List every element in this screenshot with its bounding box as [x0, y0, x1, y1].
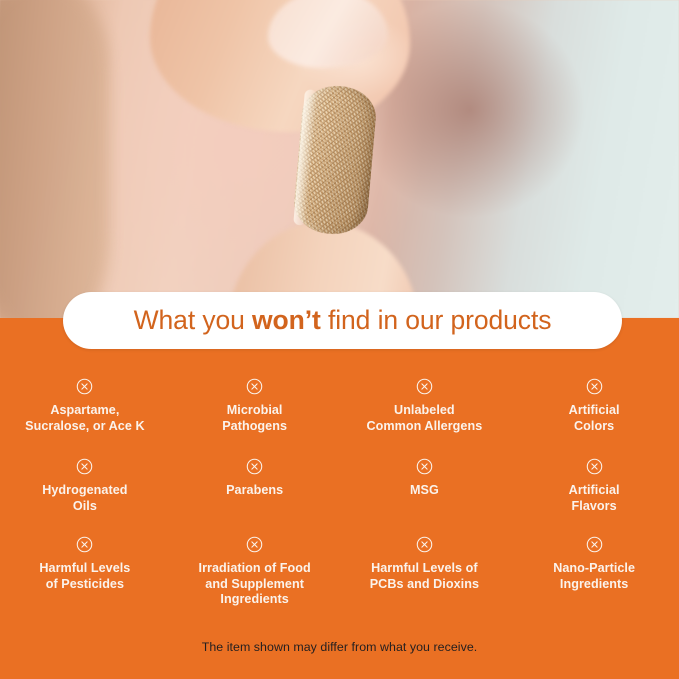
supplement-tablet	[292, 83, 379, 237]
circle-x-icon	[246, 378, 263, 395]
page-title-part2: find in our products	[321, 305, 552, 335]
exclusion-label: Nano-Particle Ingredients	[553, 561, 635, 592]
exclusion-item: MSG	[340, 447, 510, 525]
exclusion-item: Aspartame, Sucralose, or Ace K	[0, 367, 170, 447]
exclusion-label: Aspartame, Sucralose, or Ace K	[25, 403, 144, 434]
exclusion-item: Harmful Levels of Pesticides	[0, 525, 170, 607]
photo-left-finger	[0, 0, 110, 318]
exclusion-item: Parabens	[170, 447, 340, 525]
exclusion-label: Harmful Levels of PCBs and Dioxins	[370, 561, 479, 592]
page-title: What you won’t find in our products	[134, 307, 552, 334]
circle-x-icon	[246, 458, 263, 475]
exclusion-label: Artificial Flavors	[569, 483, 620, 514]
circle-x-icon	[416, 458, 433, 475]
footer: The item shown may differ from what you …	[0, 638, 679, 656]
exclusions-row-2: Hydrogenated Oils Parabens MSG	[0, 447, 679, 525]
circle-x-icon	[416, 536, 433, 553]
circle-x-icon	[416, 378, 433, 395]
exclusion-label: Parabens	[226, 483, 283, 499]
exclusion-item: Nano-Particle Ingredients	[509, 525, 679, 607]
exclusions-row-1: Aspartame, Sucralose, or Ace K Microbial…	[0, 367, 679, 447]
circle-x-icon	[586, 536, 603, 553]
circle-x-icon	[586, 378, 603, 395]
exclusion-item: Unlabeled Common Allergens	[340, 367, 510, 447]
exclusions-row-3: Harmful Levels of Pesticides Irradiation…	[0, 525, 679, 607]
exclusion-item: Hydrogenated Oils	[0, 447, 170, 525]
exclusion-item: Microbial Pathogens	[170, 367, 340, 447]
exclusion-label: Irradiation of Food and Supplement Ingre…	[199, 561, 311, 608]
circle-x-icon	[246, 536, 263, 553]
disclaimer-text: The item shown may differ from what you …	[202, 640, 478, 654]
circle-x-icon	[586, 458, 603, 475]
exclusion-label: Artificial Colors	[569, 403, 620, 434]
headline-banner: What you won’t find in our products	[63, 292, 622, 349]
exclusion-item: Artificial Colors	[509, 367, 679, 447]
exclusion-item: Irradiation of Food and Supplement Ingre…	[170, 525, 340, 607]
exclusion-label: Unlabeled Common Allergens	[366, 403, 482, 434]
exclusions-grid: Aspartame, Sucralose, or Ace K Microbial…	[0, 367, 679, 607]
exclusion-label: MSG	[410, 483, 439, 499]
exclusion-item: Harmful Levels of PCBs and Dioxins	[340, 525, 510, 607]
product-infographic-page: What you won’t find in our products Aspa…	[0, 0, 679, 679]
exclusion-label: Microbial Pathogens	[222, 403, 287, 434]
exclusion-item: Artificial Flavors	[509, 447, 679, 525]
circle-x-icon	[76, 458, 93, 475]
page-title-part1: What you	[134, 305, 252, 335]
product-photo	[0, 0, 679, 318]
page-title-emphasis: won’t	[252, 305, 321, 335]
exclusion-label: Hydrogenated Oils	[42, 483, 127, 514]
exclusion-label: Harmful Levels of Pesticides	[39, 561, 130, 592]
circle-x-icon	[76, 378, 93, 395]
circle-x-icon	[76, 536, 93, 553]
